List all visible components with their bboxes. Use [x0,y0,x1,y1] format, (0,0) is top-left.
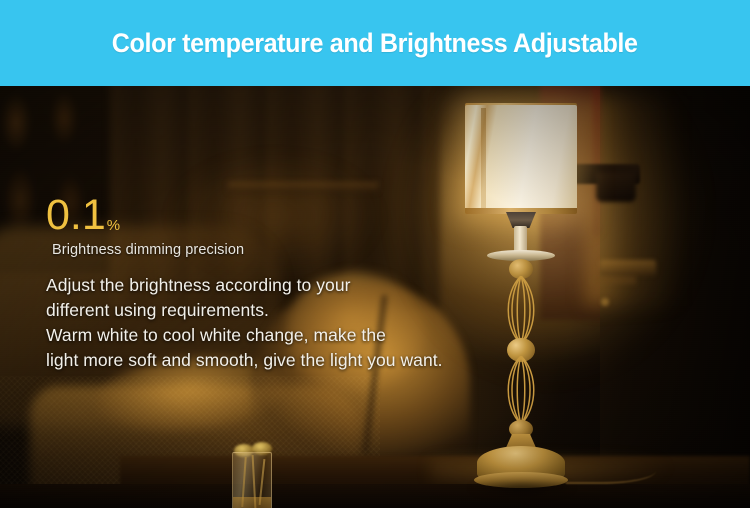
body-line-3: Warm white to cool white change, make th… [46,323,466,348]
stat-block: 0.1 % Brightness dimming precision [46,194,244,258]
stat-value-row: 0.1 % [46,194,244,237]
stat-unit: % [106,218,120,237]
body-line-4: light more soft and smooth, give the lig… [46,348,466,373]
stat-number: 0.1 [46,194,106,237]
page-title: Color temperature and Brightness Adjusta… [112,28,638,59]
promo-banner-page: Color temperature and Brightness Adjusta… [0,0,750,508]
room-photo: 0.1 % Brightness dimming precision Adjus… [0,86,750,508]
body-line-1: Adjust the brightness according to your [46,273,466,298]
stat-caption: Brightness dimming precision [52,242,244,258]
body-line-2: different using requirements. [46,298,466,323]
header-banner: Color temperature and Brightness Adjusta… [0,0,750,86]
body-copy: Adjust the brightness according to your … [46,273,466,373]
